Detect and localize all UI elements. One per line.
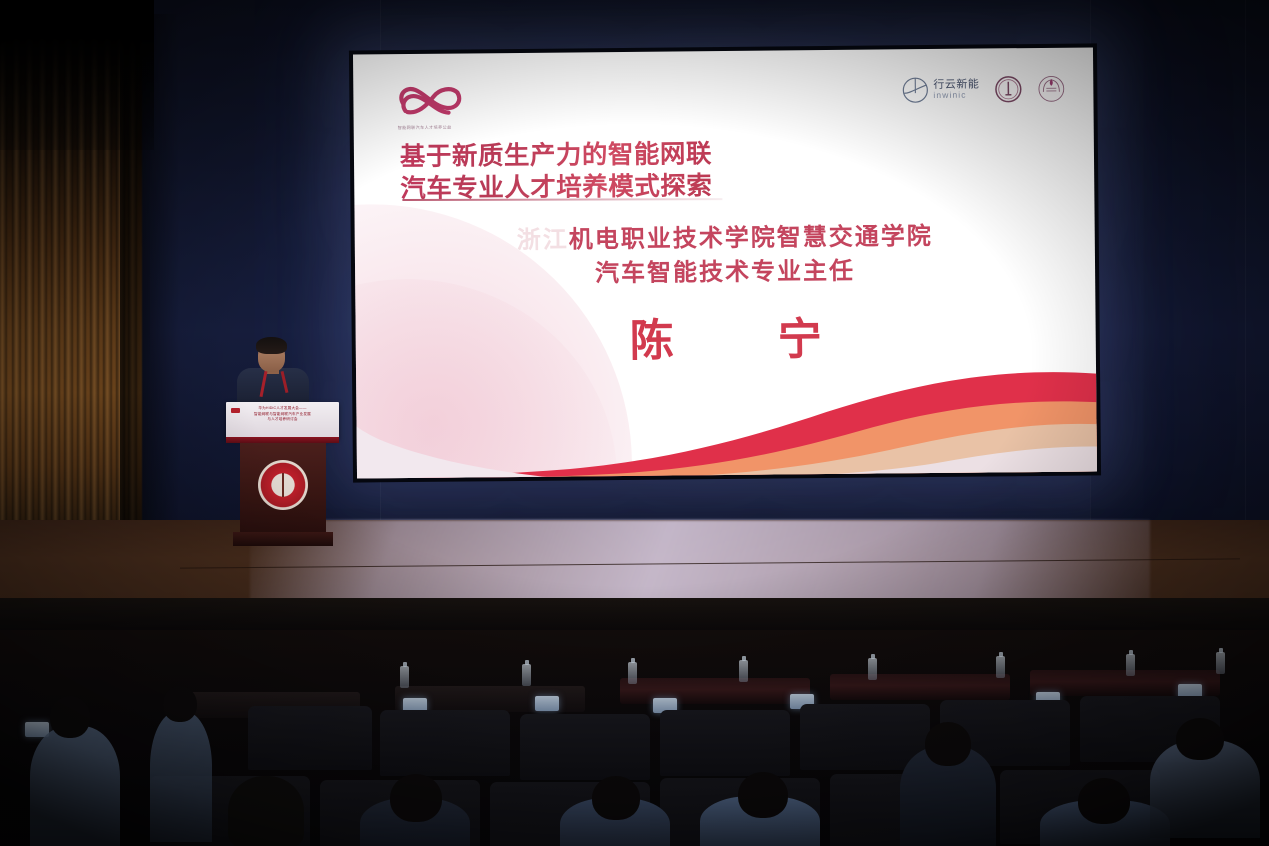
audience-seat: [248, 706, 372, 770]
auditorium-scene: 智能网联汽车人才培养公益 行云新能 inwinic: [0, 0, 1269, 846]
water-bottle: [628, 662, 637, 684]
audience-attendee-head: [592, 776, 640, 820]
audience-seat: [380, 710, 510, 776]
slide-subtitle-line2: 汽车智能技术专业主任: [355, 252, 1095, 293]
subtitle-line1-text: 机电职业技术学院智慧交通学院: [569, 221, 933, 253]
podium-sign-text: 华为HiDiC人才发展大会—— 智能网联与智能网联汽车产业发展 与人才培养研讨会: [231, 406, 334, 423]
wall-panel-right: [1090, 0, 1269, 600]
seat-row-rail: [830, 674, 1010, 700]
audience-seat: [520, 714, 650, 780]
podium-base: [233, 532, 333, 546]
audience-attendee-head: [738, 772, 788, 818]
seat-row-rail: [620, 678, 810, 704]
infinity-loop-logo: [393, 80, 467, 123]
audience-attendee-head: [163, 686, 197, 722]
curtain-edge-shadow: [120, 14, 180, 526]
event-logo: 智能网联汽车人才培养公益: [393, 80, 480, 137]
water-bottle: [1126, 654, 1135, 676]
water-bottle: [739, 660, 748, 682]
seat-back-display[interactable]: [535, 696, 559, 711]
audience-area: [0, 630, 1269, 846]
audience-attendee-head: [50, 696, 90, 738]
partner-logos: 行云新能 inwinic: [901, 75, 1065, 105]
slide-subtitle: 浙江机电职业技术学院智慧交通学院 汽车智能技术专业主任: [355, 217, 1096, 292]
subtitle-faded-prefix: 浙江: [517, 224, 569, 253]
audience-attendee-head: [1176, 718, 1224, 760]
water-bottle: [996, 656, 1005, 678]
speaker-hair: [256, 337, 287, 354]
audience-attendee: [30, 726, 120, 846]
water-bottle: [522, 664, 531, 686]
water-bottle: [1216, 652, 1225, 674]
slide-title: 基于新质生产力的智能网联 汽车专业人才培养模式探索: [400, 139, 741, 205]
podium-sign-line3: 与人才培养研讨会: [231, 417, 334, 423]
event-logo-caption: 智能网联汽车人才培养公益: [398, 125, 452, 132]
slide-title-line1: 基于新质生产力的智能网联: [400, 139, 740, 174]
wall-seam: [1245, 0, 1246, 600]
audience-attendee-head: [390, 774, 442, 822]
audience-seat: [660, 710, 790, 776]
audience-attendee-head: [925, 722, 971, 766]
audience-attendee: [150, 712, 212, 842]
inwinic-logo: 行云新能 inwinic: [901, 76, 979, 105]
water-bottle: [400, 666, 409, 688]
inwinic-name-en: inwinic: [933, 91, 979, 100]
presentation-screen[interactable]: 智能网联汽车人才培养公益 行云新能 inwinic: [353, 47, 1097, 478]
audience-attendee-head: [1078, 778, 1130, 824]
presenter-name: 陈 宁: [355, 300, 1096, 371]
podium-seal-emblem: [258, 460, 308, 510]
laurel-emblem-icon: [1037, 75, 1065, 103]
inwinic-circle-icon: [901, 76, 929, 104]
audience-attendee-head: [228, 776, 304, 846]
water-bottle: [868, 658, 877, 680]
university-emblem-icon: [994, 75, 1022, 103]
